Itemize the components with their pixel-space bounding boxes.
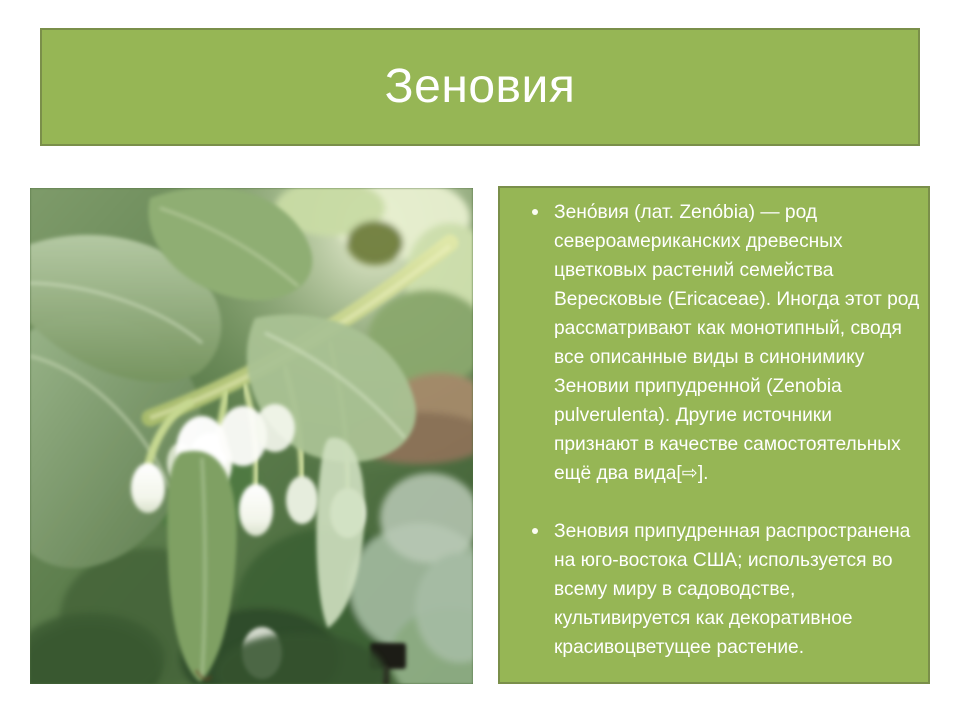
content-text-box: Зено́вия (лат. Zenóbia) — род североамер… [498,186,930,684]
list-item: Зено́вия (лат. Zenóbia) — род североамер… [510,198,920,488]
list-item-text: Зеновия припудренная распространена на ю… [554,517,920,662]
list-item-text: Зено́вия (лат. Zenóbia) — род североамер… [554,198,920,488]
bullet-list: Зено́вия (лат. Zenóbia) — род североамер… [510,198,920,662]
bullet-dot-icon [532,528,538,534]
plant-photo [30,188,473,684]
list-item: Зеновия припудренная распространена на ю… [510,517,920,662]
slide-title-banner: Зеновия [40,28,920,146]
bullet-dot-icon [532,209,538,215]
plant-photo-image [30,188,473,684]
page-title: Зеновия [385,63,576,111]
